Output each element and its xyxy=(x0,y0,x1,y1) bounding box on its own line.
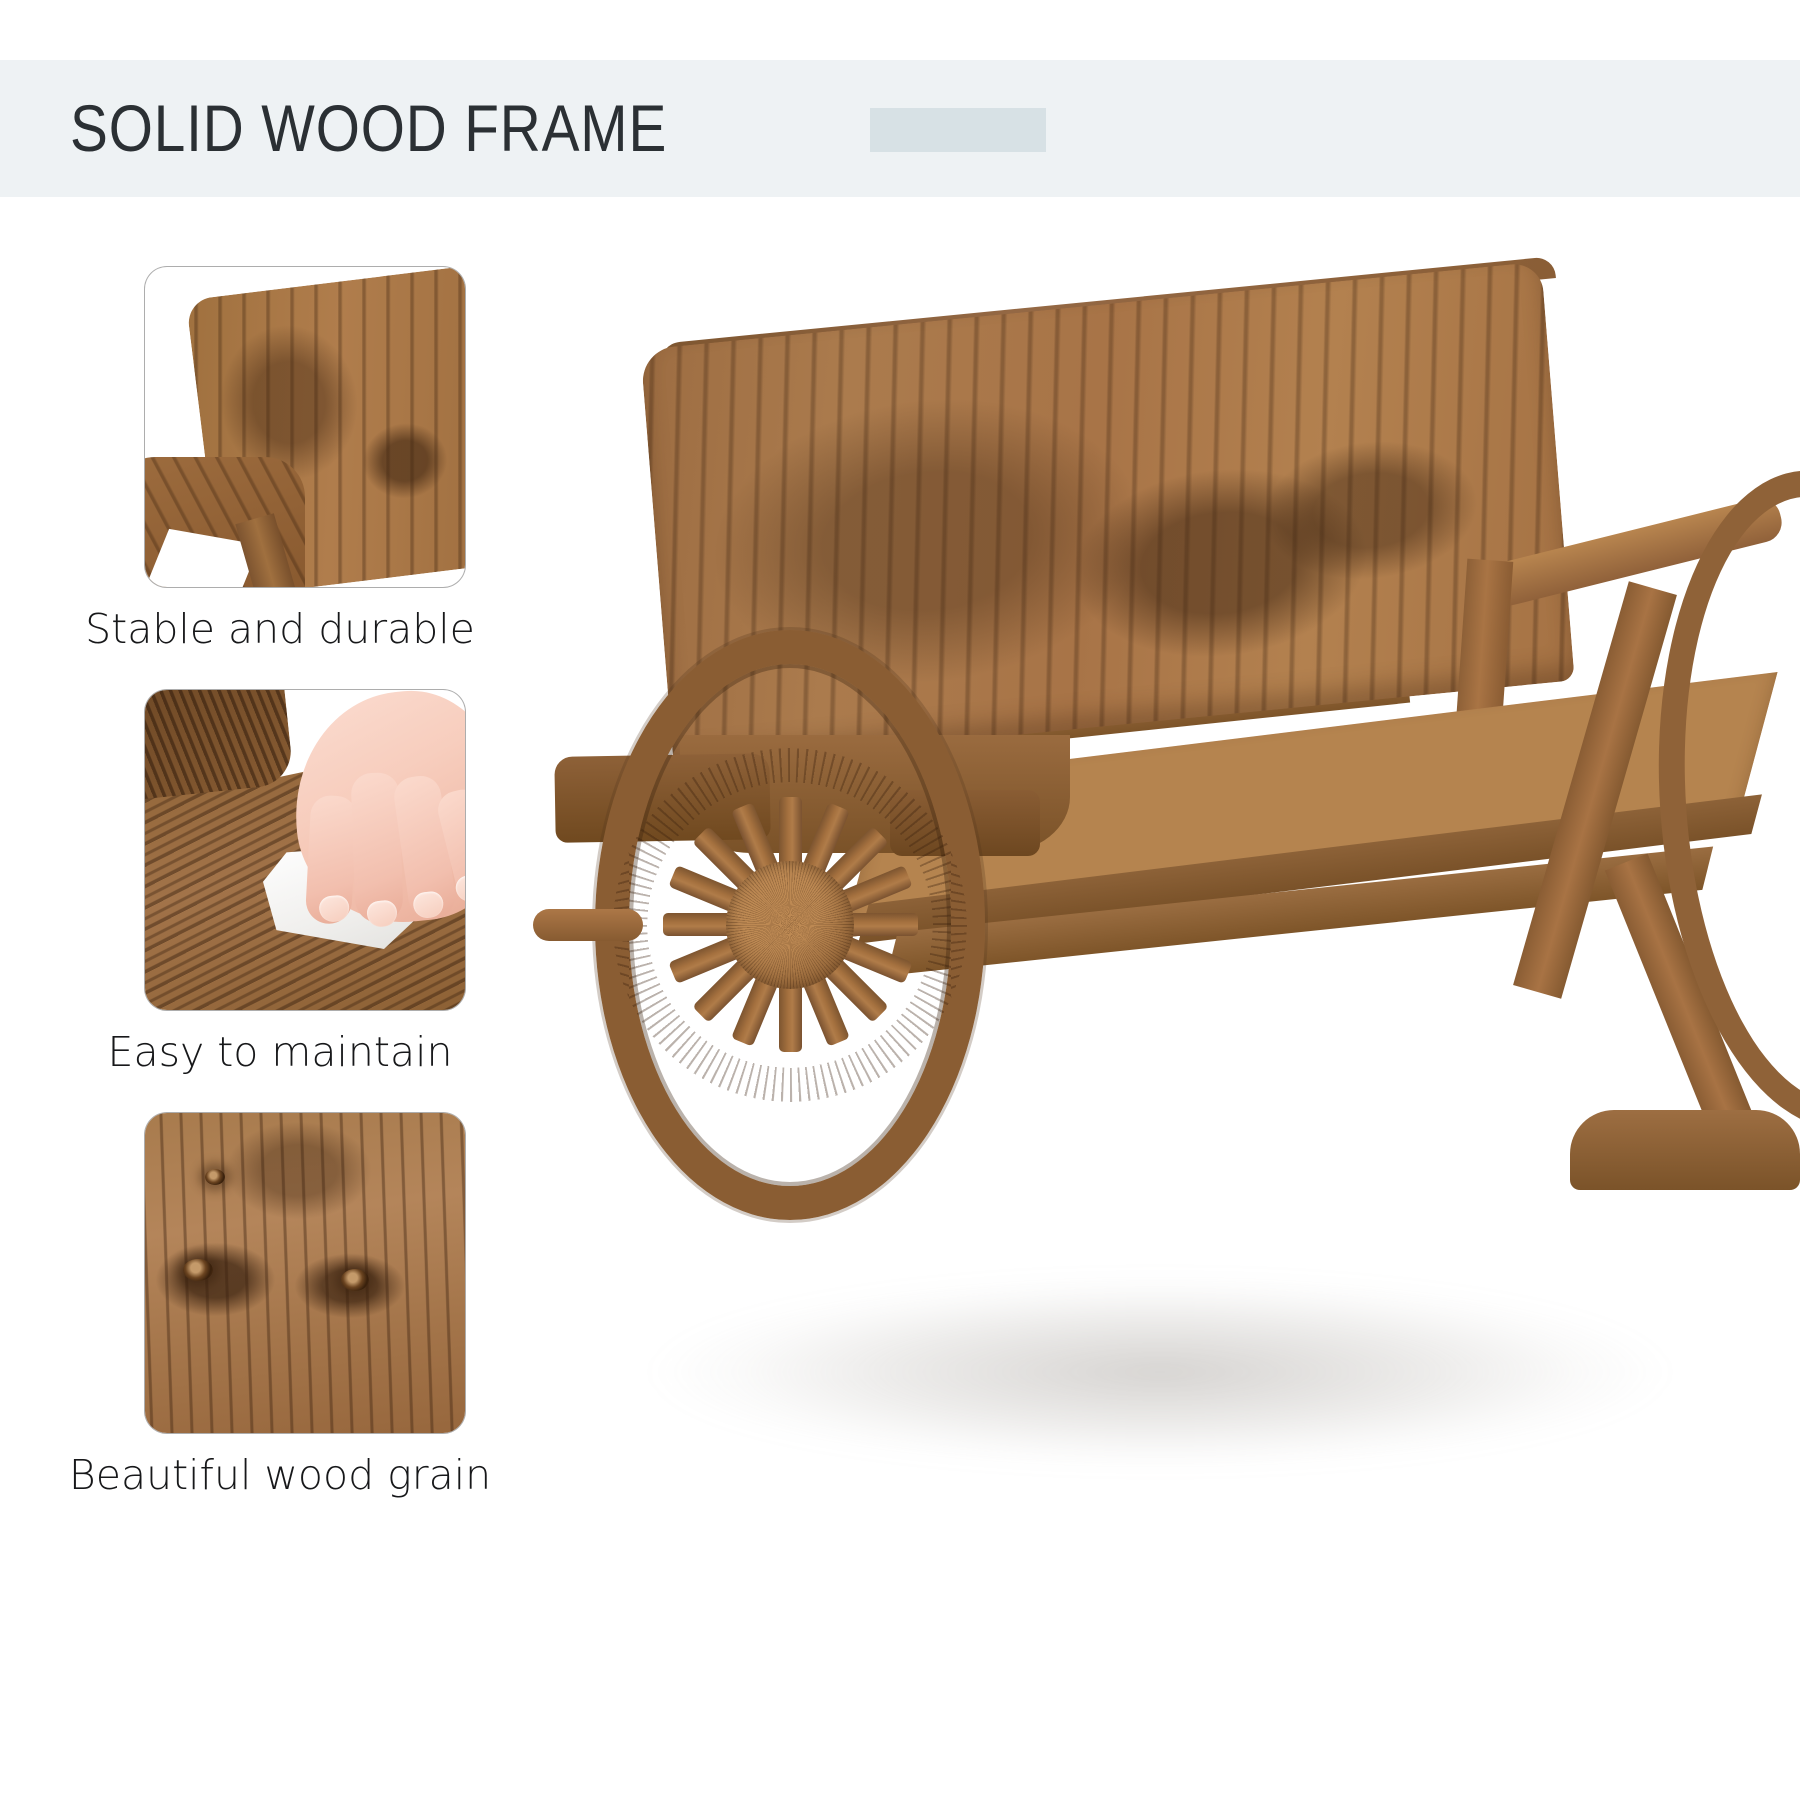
feature-thumbnail-easy-to-maintain[interactable] xyxy=(145,690,465,1010)
wood-knot-center xyxy=(341,1269,369,1291)
thumbnail-art-backrest-closeup xyxy=(145,267,465,587)
thumbnail-art-hand-wiping xyxy=(145,690,465,1010)
feature-caption-stable-and-durable: Stable and durable xyxy=(0,605,560,653)
feature-thumbnail-beautiful-wood-grain[interactable] xyxy=(145,1113,465,1433)
wagon-wheel-left xyxy=(595,630,985,1220)
bench-foot-right xyxy=(1570,1110,1800,1190)
wheel-hub xyxy=(726,861,854,989)
wood-knot-left xyxy=(183,1259,213,1281)
feature-thumbnail-stable-and-durable[interactable] xyxy=(145,267,465,587)
thumbnail-art-wood-grain xyxy=(145,1113,465,1433)
product-image-wagon-wheel-bench xyxy=(560,230,1800,1580)
feature-caption-easy-to-maintain: Easy to maintain xyxy=(0,1028,560,1076)
ground-shadow xyxy=(620,1240,1700,1480)
feature-caption-beautiful-wood-grain: Beautiful wood grain xyxy=(0,1451,560,1499)
title-accent-swatch xyxy=(870,108,1046,152)
page-title: SOLID WOOD FRAME xyxy=(70,83,667,173)
wheel-axle-stub xyxy=(533,909,643,941)
wood-knot-top xyxy=(205,1169,225,1185)
feature-column: Stable and durable E xyxy=(0,197,560,1800)
